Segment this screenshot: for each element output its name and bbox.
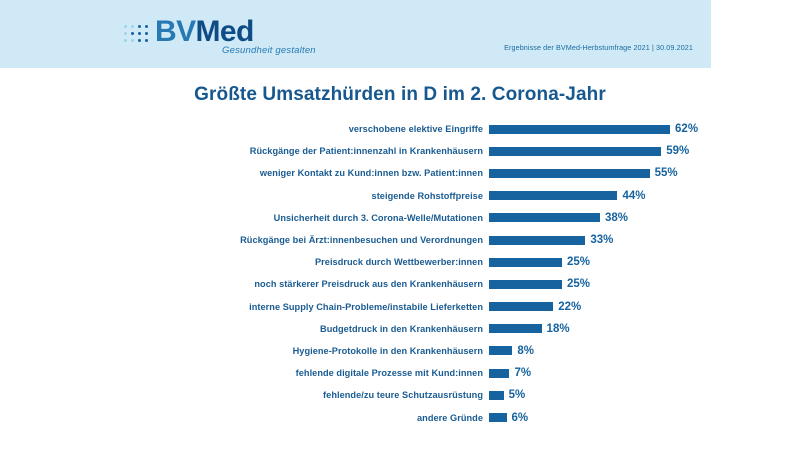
bar-area: 5%: [489, 389, 800, 401]
bar-area: 25%: [489, 278, 800, 290]
chart-row: noch stärkerer Preisdruck aus den Kranke…: [0, 273, 800, 295]
bar: [489, 169, 650, 178]
bar: [489, 346, 512, 355]
bar-value-label: 25%: [567, 256, 590, 268]
category-label: Preisdruck durch Wettbewerber:innen: [0, 257, 489, 267]
header-band: BVMed Gesundheit gestalten Ergebnisse de…: [0, 0, 711, 68]
bar-value-label: 5%: [509, 389, 526, 401]
bar-area: 62%: [489, 123, 800, 135]
header-survey-meta: Ergebnisse der BVMed-Herbstumfrage 2021 …: [504, 43, 693, 52]
bar: [489, 236, 585, 245]
category-label: weniger Kontakt zu Kund:innen bzw. Patie…: [0, 168, 489, 178]
bar: [489, 369, 509, 378]
bar-chart: verschobene elektive Eingriffe62%Rückgän…: [0, 118, 800, 429]
bar-area: 38%: [489, 212, 800, 224]
category-label: andere Gründe: [0, 413, 489, 423]
chart-row: weniger Kontakt zu Kund:innen bzw. Patie…: [0, 162, 800, 184]
chart-row: fehlende digitale Prozesse mit Kund:inne…: [0, 362, 800, 384]
category-label: fehlende/zu teure Schutzausrüstung: [0, 390, 489, 400]
chart-row: Preisdruck durch Wettbewerber:innen25%: [0, 251, 800, 273]
category-label: noch stärkerer Preisdruck aus den Kranke…: [0, 279, 489, 289]
category-label: interne Supply Chain-Probleme/instabile …: [0, 302, 489, 312]
bar-area: 18%: [489, 323, 800, 335]
chart-row: verschobene elektive Eingriffe62%: [0, 118, 800, 140]
category-label: Rückgänge der Patient:innenzahl in Krank…: [0, 146, 489, 156]
bar-area: 22%: [489, 301, 800, 313]
bar-value-label: 18%: [547, 323, 570, 335]
bar-value-label: 8%: [517, 345, 534, 357]
chart-row: Rückgänge bei Ärzt:innenbesuchen und Ver…: [0, 229, 800, 251]
bar-value-label: 6%: [512, 412, 529, 424]
bar: [489, 147, 661, 156]
bar: [489, 302, 553, 311]
bar: [489, 391, 504, 400]
category-label: Hygiene-Protokolle in den Krankenhäusern: [0, 346, 489, 356]
bvmed-logo: BVMed: [122, 17, 254, 47]
bar: [489, 324, 542, 333]
chart-row: steigende Rohstoffpreise44%: [0, 185, 800, 207]
bar: [489, 413, 507, 422]
bar-area: 33%: [489, 234, 800, 246]
bar-area: 59%: [489, 145, 800, 157]
logo-text-bv: BV: [155, 15, 195, 48]
bar-value-label: 62%: [675, 123, 698, 135]
bar: [489, 125, 670, 134]
bar-value-label: 55%: [655, 167, 678, 179]
page-title: Größte Umsatzhürden in D im 2. Corona-Ja…: [0, 84, 800, 106]
logo-tagline: Gesundheit gestalten: [222, 45, 316, 56]
bar: [489, 191, 617, 200]
bar: [489, 258, 562, 267]
chart-row: Rückgänge der Patient:innenzahl in Krank…: [0, 140, 800, 162]
bar: [489, 280, 562, 289]
chart-row: Budgetdruck in den Krankenhäusern18%: [0, 318, 800, 340]
bar-area: 25%: [489, 256, 800, 268]
category-label: Budgetdruck in den Krankenhäusern: [0, 324, 489, 334]
bar-area: 8%: [489, 345, 800, 357]
category-label: steigende Rohstoffpreise: [0, 191, 489, 201]
chart-row: andere Gründe6%: [0, 406, 800, 428]
bar-value-label: 25%: [567, 278, 590, 290]
category-label: Rückgänge bei Ärzt:innenbesuchen und Ver…: [0, 235, 489, 245]
chart-row: Unsicherheit durch 3. Corona-Welle/Mutat…: [0, 207, 800, 229]
bar-value-label: 38%: [605, 212, 628, 224]
bar-value-label: 22%: [558, 301, 581, 313]
bar-value-label: 44%: [622, 190, 645, 202]
category-label: fehlende digitale Prozesse mit Kund:inne…: [0, 368, 489, 378]
chart-row: Hygiene-Protokolle in den Krankenhäusern…: [0, 340, 800, 362]
bar-area: 55%: [489, 167, 800, 179]
chart-row: fehlende/zu teure Schutzausrüstung5%: [0, 384, 800, 406]
dot-grid-icon: [122, 23, 150, 44]
logo-wordmark: BVMed: [155, 17, 254, 47]
bar-area: 44%: [489, 190, 800, 202]
bar-area: 7%: [489, 367, 800, 379]
bar-value-label: 59%: [666, 145, 689, 157]
bar: [489, 213, 600, 222]
logo-text-med: Med: [195, 15, 253, 48]
category-label: verschobene elektive Eingriffe: [0, 124, 489, 134]
bar-value-label: 33%: [590, 234, 613, 246]
chart-row: interne Supply Chain-Probleme/instabile …: [0, 296, 800, 318]
category-label: Unsicherheit durch 3. Corona-Welle/Mutat…: [0, 213, 489, 223]
bar-value-label: 7%: [514, 367, 531, 379]
bar-area: 6%: [489, 412, 800, 424]
